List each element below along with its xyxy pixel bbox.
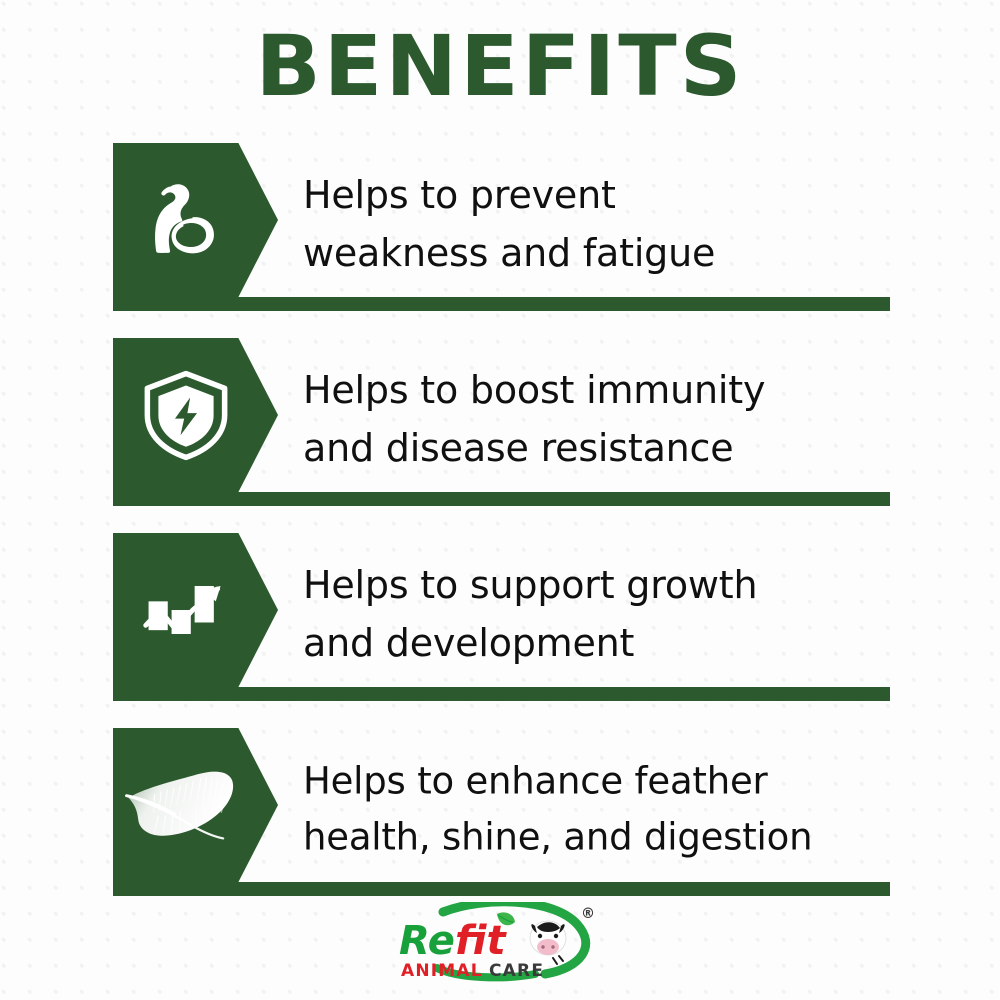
benefit-text-line2: health, shine, and digestion [303, 810, 903, 866]
refit-animal-care-logo: Re fit ® [385, 902, 615, 984]
benefit-text-line1: Helps to boost immunity [303, 362, 903, 420]
benefit-text-line2: and disease resistance [303, 420, 903, 478]
benefit-text-line2: weakness and fatigue [303, 225, 903, 283]
flexed-biceps-icon [131, 165, 241, 275]
benefit-row: Helps to enhance feather health, shine, … [113, 728, 890, 896]
benefit-text: Helps to prevent weakness and fatigue [303, 167, 903, 283]
growth-chart-arrow-icon [131, 555, 241, 665]
page-title: BENEFITS [0, 22, 1000, 110]
benefit-row: Helps to support growth and development [113, 533, 890, 701]
benefit-text-line1: Helps to prevent [303, 167, 903, 225]
benefit-underline-bar [113, 492, 890, 506]
logo-word-part1: Re [399, 918, 455, 964]
benefit-text: Helps to boost immunity and disease resi… [303, 362, 903, 478]
logo-tagline-part1: ANIMAL [401, 961, 483, 981]
feather-icon [121, 750, 251, 860]
benefit-row: Helps to prevent weakness and fatigue [113, 143, 890, 311]
benefit-text: Helps to support growth and development [303, 557, 903, 673]
logo-word-part2: fit [455, 918, 507, 964]
benefit-underline-bar [113, 882, 890, 896]
logo-tagline-part2: CARE [489, 961, 544, 981]
benefit-underline-bar [113, 687, 890, 701]
benefit-text-line1: Helps to enhance feather [303, 754, 903, 810]
benefit-text-line1: Helps to support growth [303, 557, 903, 615]
benefit-row: Helps to boost immunity and disease resi… [113, 338, 890, 506]
shield-lightning-icon [131, 360, 241, 470]
benefit-underline-bar [113, 297, 890, 311]
registered-trademark-mark: ® [581, 906, 595, 922]
cow-head-icon [530, 921, 566, 966]
benefits-poster: BENEFITS Helps to prevent weakness and f… [0, 0, 1000, 1000]
benefit-text-line2: and development [303, 615, 903, 673]
benefit-text: Helps to enhance feather health, shine, … [303, 754, 903, 866]
